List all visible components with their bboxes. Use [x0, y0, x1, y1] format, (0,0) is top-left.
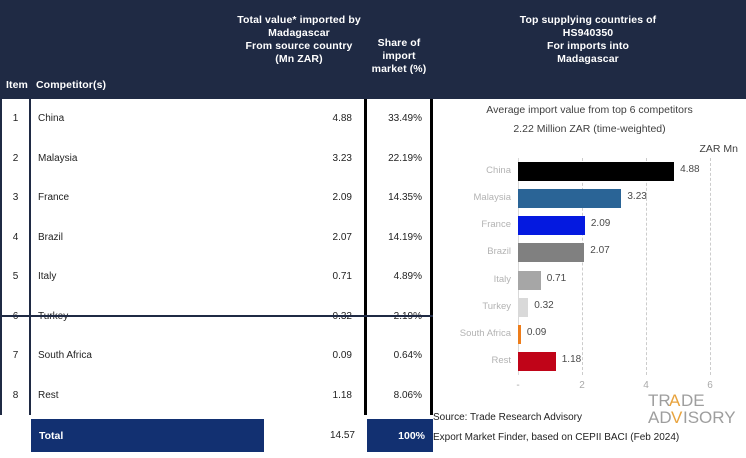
- chart-bar-row: Italy0.71: [518, 267, 710, 294]
- cell-share: 22.19%: [367, 139, 433, 179]
- cell-item: 8: [0, 376, 31, 416]
- header-chart-line-3: For imports into: [446, 40, 730, 53]
- cell-total-value: 0.09: [264, 336, 367, 376]
- chart-bar-value-label: 2.07: [590, 245, 609, 256]
- column-header-item: Item: [6, 79, 28, 92]
- header-total-value-line-2: Madagascar: [234, 27, 364, 40]
- cell-share: 14.19%: [367, 218, 433, 258]
- chart-bar: [518, 243, 584, 262]
- chart-category-label: Rest: [491, 355, 511, 366]
- chart-bar: [518, 162, 674, 181]
- report-page: Total value* imported by Madagascar From…: [0, 0, 746, 458]
- column-header-competitor: Competitor(s): [36, 79, 106, 92]
- chart-bar: [518, 189, 621, 208]
- table-row: 4Brazil2.0714.19%: [0, 218, 433, 258]
- svg-text:V: V: [671, 408, 683, 427]
- chart-bar-value-label: 0.32: [534, 300, 553, 311]
- cell-competitor: France: [31, 178, 264, 218]
- table-row: 5Italy0.714.89%: [0, 257, 433, 297]
- cell-item: 1: [0, 99, 31, 139]
- competitor-table: 1China4.8833.49%2Malaysia3.2322.19%3Fran…: [0, 99, 433, 415]
- total-value: 14.57: [264, 419, 367, 452]
- chart-subtitle: 2.22 Million ZAR (time-weighted): [433, 123, 746, 135]
- chart-bar: [518, 325, 521, 344]
- chart-bar-row: Rest1.18: [518, 348, 710, 375]
- cell-competitor: Brazil: [31, 218, 264, 258]
- chart-category-label: Italy: [494, 274, 511, 285]
- chart-bar-value-label: 0.09: [527, 327, 546, 338]
- table-total-row: Total 14.57 100%: [0, 419, 433, 452]
- header-share-line-3: market (%): [366, 63, 432, 76]
- total-item-spacer: [0, 419, 31, 452]
- cell-item: 2: [0, 139, 31, 179]
- cell-share: 8.06%: [367, 376, 433, 416]
- cell-share: 14.35%: [367, 178, 433, 218]
- cell-competitor: China: [31, 99, 264, 139]
- total-share: 100%: [367, 419, 433, 452]
- header-total-value-title: Total value* imported by Madagascar From…: [234, 14, 364, 66]
- table-row: 1China4.8833.49%: [0, 99, 433, 139]
- table-row: 7South Africa0.090.64%: [0, 336, 433, 376]
- cell-item: 4: [0, 218, 31, 258]
- header-chart-panel-title: Top supplying countries of HS940350 For …: [446, 14, 730, 66]
- chart-bar-row: Brazil2.07: [518, 239, 710, 266]
- cell-competitor: Italy: [31, 257, 264, 297]
- chart-unit-label: ZAR Mn: [699, 143, 738, 155]
- chart-category-label: South Africa: [460, 328, 511, 339]
- cell-total-value: 2.09: [264, 178, 367, 218]
- chart-bar: [518, 271, 541, 290]
- chart-category-label: China: [486, 165, 511, 176]
- header-total-value-line-3: From source country: [234, 40, 364, 53]
- chart-bar-row: Malaysia3.23: [518, 185, 710, 212]
- header-chart-line-2: HS940350: [446, 27, 730, 40]
- cell-share: 0.64%: [367, 336, 433, 376]
- chart-category-label: France: [481, 219, 511, 230]
- svg-text:AD: AD: [648, 408, 672, 427]
- cell-total-value: 1.18: [264, 376, 367, 416]
- chart-x-tick-label: -: [516, 380, 519, 391]
- chart-bar-value-label: 0.71: [547, 273, 566, 284]
- cell-competitor: Malaysia: [31, 139, 264, 179]
- logo-mark-icon: TR A DE AD V ISORY: [648, 390, 740, 430]
- table-row: 3France2.0914.35%: [0, 178, 433, 218]
- chart-bar-value-label: 3.23: [627, 191, 646, 202]
- chart-category-label: Turkey: [482, 301, 511, 312]
- header-chart-line-1: Top supplying countries of: [446, 14, 730, 27]
- chart-bar: [518, 216, 585, 235]
- chart-bar-row: France2.09: [518, 212, 710, 239]
- chart-title: Average import value from top 6 competit…: [433, 104, 746, 116]
- chart-bar-row: South Africa0.09: [518, 321, 710, 348]
- header-chart-line-4: Madagascar: [446, 53, 730, 66]
- svg-text:ISORY: ISORY: [683, 408, 736, 427]
- chart-bar: [518, 298, 528, 317]
- chart-bar-value-label: 4.88: [680, 164, 699, 175]
- chart-bar-row: Turkey0.32: [518, 294, 710, 321]
- cell-total-value: 3.23: [264, 139, 367, 179]
- chart-plot-area: China4.88Malaysia3.23France2.09Brazil2.0…: [518, 158, 710, 375]
- cell-competitor: South Africa: [31, 336, 264, 376]
- cell-item: 5: [0, 257, 31, 297]
- cell-competitor: Rest: [31, 376, 264, 416]
- total-label: Total: [31, 419, 264, 452]
- table-row: 8Rest1.188.06%: [0, 376, 433, 416]
- header-share-line-2: import: [366, 50, 432, 63]
- source-line-1: Source: Trade Research Advisory: [433, 412, 582, 423]
- source-line-2: Export Market Finder, based on CEPII BAC…: [433, 432, 679, 443]
- header-total-value-line-4: (Mn ZAR): [234, 53, 364, 66]
- cell-share: 4.89%: [367, 257, 433, 297]
- trade-advisory-logo: TR A DE AD V ISORY: [648, 390, 740, 430]
- cell-total-value: 0.71: [264, 257, 367, 297]
- header-total-value-line-1: Total value* imported by: [234, 14, 364, 27]
- chart-bar-value-label: 2.09: [591, 218, 610, 229]
- header-share-title: Share of import market (%): [366, 37, 432, 76]
- chart-gridline: [710, 158, 711, 375]
- cell-item: 7: [0, 336, 31, 376]
- cell-share: 33.49%: [367, 99, 433, 139]
- chart-bar-row: China4.88: [518, 158, 710, 185]
- cell-total-value: 4.88: [264, 99, 367, 139]
- chart-bar: [518, 352, 556, 371]
- chart-category-label: Brazil: [487, 246, 511, 257]
- chart-x-tick-label: 2: [579, 380, 585, 391]
- table-row: 2Malaysia3.2322.19%: [0, 139, 433, 179]
- table-bottom-rule: [0, 315, 433, 317]
- header-band: Total value* imported by Madagascar From…: [0, 0, 746, 99]
- chart-bar-value-label: 1.18: [562, 354, 581, 365]
- cell-total-value: 2.07: [264, 218, 367, 258]
- header-share-line-1: Share of: [366, 37, 432, 50]
- chart-category-label: Malaysia: [474, 192, 512, 203]
- cell-item: 3: [0, 178, 31, 218]
